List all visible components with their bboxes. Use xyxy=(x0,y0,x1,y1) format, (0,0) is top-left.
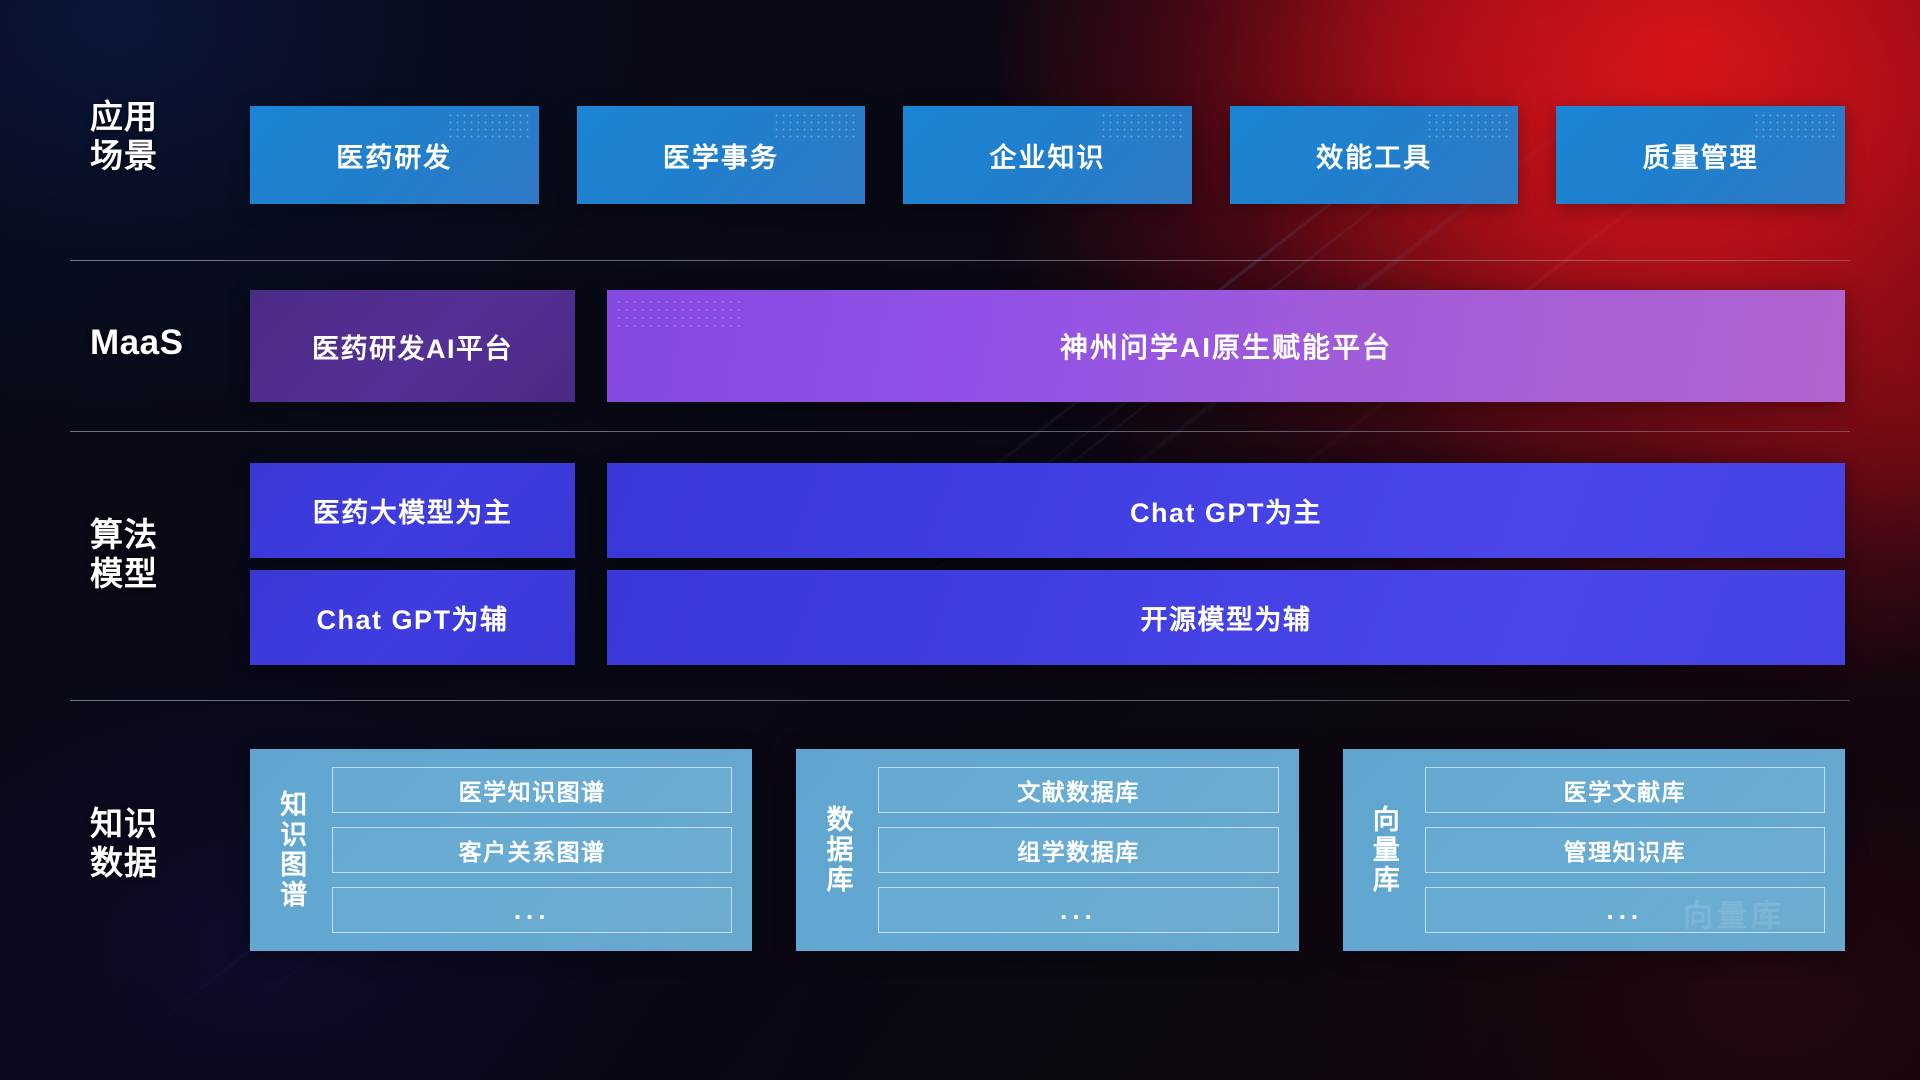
row-label-maas: MaaS xyxy=(90,322,220,363)
divider-algo-knowledge xyxy=(70,700,1850,701)
algo-card-chatgpt-secondary[interactable]: Chat GPT为辅 xyxy=(250,570,575,665)
row-knowledge-data: 知识 数据 知识图谱 医学知识图谱 客户关系图谱 ... 数据库 文献数据库 组… xyxy=(0,730,1920,970)
app-card-label: 医学事务 xyxy=(663,136,779,175)
row-label-application-scenarios: 应用 场景 xyxy=(90,98,220,176)
algo-card-label: 开源模型为辅 xyxy=(1141,598,1312,637)
diagram-canvas: 应用 场景 医药研发 医学事务 企业知识 效能工具 质量管理 xyxy=(0,0,1920,1080)
application-scenarios-track: 医药研发 医学事务 企业知识 效能工具 质量管理 xyxy=(250,106,1845,204)
knowledge-item-medical-knowledge-graph[interactable]: 医学知识图谱 xyxy=(332,767,732,813)
knowledge-group-items: 文献数据库 组学数据库 ... xyxy=(878,767,1278,933)
knowledge-group-vector-store: 向量库 医学文献库 管理知识库 ... 向量库 xyxy=(1343,749,1845,951)
app-card-medicine-rd[interactable]: 医药研发 xyxy=(250,106,539,204)
row-label-knowledge-data: 知识 数据 xyxy=(90,805,220,883)
algo-card-label: Chat GPT为主 xyxy=(1130,491,1322,530)
app-card-efficiency-tools[interactable]: 效能工具 xyxy=(1230,106,1519,204)
app-card-label: 质量管理 xyxy=(1643,136,1759,175)
app-card-label: 医药研发 xyxy=(336,136,452,175)
knowledge-item-customer-relation-graph[interactable]: 客户关系图谱 xyxy=(332,827,732,873)
algo-card-label: Chat GPT为辅 xyxy=(316,598,508,637)
divider-apps-maas xyxy=(70,260,1850,261)
knowledge-item-medical-literature-store[interactable]: 医学文献库 xyxy=(1425,767,1825,813)
app-card-medical-affairs[interactable]: 医学事务 xyxy=(577,106,866,204)
knowledge-group-database: 数据库 文献数据库 组学数据库 ... xyxy=(796,749,1298,951)
app-card-quality-management[interactable]: 质量管理 xyxy=(1556,106,1845,204)
knowledge-item-more[interactable]: ... xyxy=(878,887,1278,933)
knowledge-item-more[interactable]: ... xyxy=(1425,887,1825,933)
app-card-label: 企业知识 xyxy=(989,136,1105,175)
row-application-scenarios: 应用 场景 医药研发 医学事务 企业知识 效能工具 质量管理 xyxy=(0,106,1920,204)
algo-card-medicine-large-model-primary[interactable]: 医药大模型为主 xyxy=(250,463,575,558)
divider-maas-algo xyxy=(70,431,1850,432)
app-card-enterprise-knowledge[interactable]: 企业知识 xyxy=(903,106,1192,204)
algo-card-opensource-secondary[interactable]: 开源模型为辅 xyxy=(607,570,1845,665)
knowledge-group-items: 医学文献库 管理知识库 ... xyxy=(1425,767,1825,933)
algorithm-models-track: 医药大模型为主 Chat GPT为主 Chat GPT为辅 开源模型为辅 xyxy=(250,463,1845,665)
row-maas: MaaS 医药研发AI平台 神州问学AI原生赋能平台 xyxy=(0,290,1920,402)
app-card-label: 效能工具 xyxy=(1316,136,1432,175)
maas-card-label: 神州问学AI原生赋能平台 xyxy=(1060,326,1392,366)
row-label-algorithm-models: 算法 模型 xyxy=(90,516,220,594)
knowledge-item-literature-database[interactable]: 文献数据库 xyxy=(878,767,1278,813)
knowledge-group-title: 向量库 xyxy=(1357,767,1411,933)
knowledge-data-track: 知识图谱 医学知识图谱 客户关系图谱 ... 数据库 文献数据库 组学数据库 .… xyxy=(250,749,1845,951)
row-algorithm-models: 算法 模型 医药大模型为主 Chat GPT为主 Chat GPT为辅 开源模型… xyxy=(0,463,1920,665)
algo-card-chatgpt-primary[interactable]: Chat GPT为主 xyxy=(607,463,1845,558)
knowledge-group-knowledge-graph: 知识图谱 医学知识图谱 客户关系图谱 ... xyxy=(250,749,752,951)
knowledge-group-title: 数据库 xyxy=(810,767,864,933)
maas-card-shenzhou-wenxue-platform[interactable]: 神州问学AI原生赋能平台 xyxy=(607,290,1845,402)
knowledge-item-management-knowledge-store[interactable]: 管理知识库 xyxy=(1425,827,1825,873)
knowledge-item-omics-database[interactable]: 组学数据库 xyxy=(878,827,1278,873)
maas-track: 医药研发AI平台 神州问学AI原生赋能平台 xyxy=(250,290,1845,402)
maas-card-label: 医药研发AI平台 xyxy=(312,327,513,366)
algorithm-line-primary: 医药大模型为主 Chat GPT为主 xyxy=(250,463,1845,558)
maas-card-medicine-rd-ai-platform[interactable]: 医药研发AI平台 xyxy=(250,290,575,402)
algorithm-line-secondary: Chat GPT为辅 开源模型为辅 xyxy=(250,570,1845,665)
knowledge-group-items: 医学知识图谱 客户关系图谱 ... xyxy=(332,767,732,933)
knowledge-group-title: 知识图谱 xyxy=(264,767,318,933)
knowledge-item-more[interactable]: ... xyxy=(332,887,732,933)
algo-card-label: 医药大模型为主 xyxy=(313,491,513,530)
